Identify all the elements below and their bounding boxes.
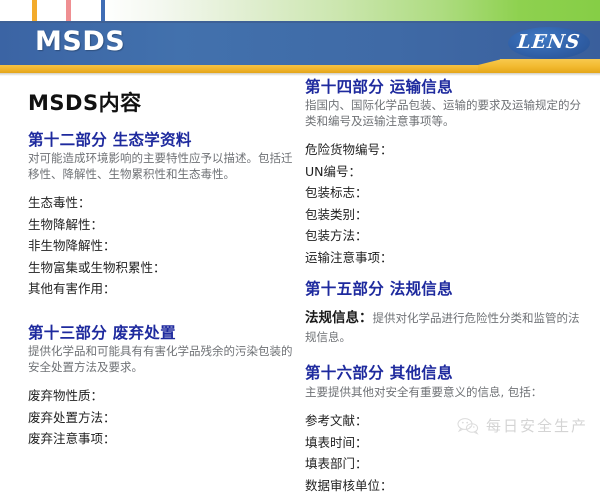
list-item: UN编号： (305, 161, 590, 183)
accent-tick-pink (66, 0, 71, 22)
band-shadow (0, 73, 600, 76)
list-item: 生物降解性： (28, 214, 298, 236)
section-15-regulatory-info: 法规信息：提供对化学品进行危险性分类和监管的法规信息。 (305, 309, 590, 345)
section-16-description: 主要提供其他对安全有重要意义的信息, 包括： (305, 385, 590, 401)
section-13-description: 提供化学品和可能具有有害化学品残余的污染包装的安全处置方法及要求。 (28, 344, 298, 375)
section-12-field-list: 生态毒性： 生物降解性： 非生物降解性： 生物富集或生物积累性： 其他有害作用： (28, 192, 298, 300)
wechat-icon (457, 417, 479, 435)
accent-tick-blue (101, 0, 105, 22)
section-14-field-list: 危险货物编号： UN编号： 包装标志： 包装类别： 包装方法： 运输注意事项： (305, 139, 590, 268)
section-part-13: 第十三部分 废弃处置 提供化学品和可能具有有害化学品残余的污染包装的安全处置方法… (28, 324, 298, 450)
section-15-heading: 第十五部分 法规信息 (305, 280, 590, 299)
section-15-inline-lead: 法规信息： (305, 310, 373, 326)
yellow-accent-band (0, 59, 600, 73)
list-item: 危险货物编号： (305, 139, 590, 161)
list-item: 生物富集或生物积累性： (28, 257, 298, 279)
yellow-band-diagonal (478, 59, 502, 73)
section-13-heading: 第十三部分 废弃处置 (28, 324, 298, 343)
section-12-heading: 第十二部分 生态学资料 (28, 131, 298, 150)
left-column: MSDS内容 第十二部分 生态学资料 对可能造成环境影响的主要特性应予以描述。包… (28, 78, 298, 450)
accent-tick-orange (32, 0, 37, 22)
spacer (305, 268, 590, 280)
section-13-field-list: 废弃物性质： 废弃处置方法： 废弃注意事项： (28, 385, 298, 450)
list-item: 包装标志： (305, 182, 590, 204)
page-title: MSDS内容 (28, 87, 298, 117)
section-14-description: 指国内、国际化学品包装、运输的要求及运输规定的分类和编号及运输注意事项等。 (305, 98, 590, 129)
section-part-15: 第十五部分 法规信息 法规信息：提供对化学品进行危险性分类和监管的法规信息。 (305, 280, 590, 345)
lens-logo-text: LENS (508, 31, 590, 53)
spacer (28, 300, 298, 324)
yellow-band-right (500, 59, 600, 73)
section-part-12: 第十二部分 生态学资料 对可能造成环境影响的主要特性应予以描述。包括迁移性、降解… (28, 131, 298, 300)
list-item: 填表部门： (305, 453, 590, 475)
slide-content: MSDS内容 第十二部分 生态学资料 对可能造成环境影响的主要特性应予以描述。包… (0, 78, 600, 450)
list-item: 生态毒性： (28, 192, 298, 214)
spacer (305, 345, 590, 364)
list-item: 运输注意事项： (305, 247, 590, 269)
list-item: 废弃注意事项： (28, 428, 298, 450)
section-part-14: 第十四部分 运输信息 指国内、国际化学品包装、运输的要求及运输规定的分类和编号及… (305, 78, 590, 268)
top-decorative-strip (0, 0, 600, 22)
section-12-description: 对可能造成环境影响的主要特性应予以描述。包括迁移性、降解性、生物累积性和生态毒性… (28, 151, 298, 182)
list-item: 其他有害作用： (28, 278, 298, 300)
list-item: 废弃处置方法： (28, 407, 298, 429)
watermark-text: 每日安全生产 (486, 415, 588, 436)
list-item: 包装类别： (305, 204, 590, 226)
list-item: 废弃物性质： (28, 385, 298, 407)
watermark: 每日安全生产 (457, 415, 588, 436)
yellow-band-left (0, 65, 482, 73)
list-item: 非生物降解性： (28, 235, 298, 257)
list-item: 包装方法： (305, 225, 590, 247)
lens-logo: LENS (508, 27, 590, 59)
section-14-heading: 第十四部分 运输信息 (305, 78, 590, 97)
section-16-heading: 第十六部分 其他信息 (305, 364, 590, 383)
page-header-title: MSDS (35, 26, 125, 57)
list-item: 数据审核单位： (305, 475, 590, 496)
